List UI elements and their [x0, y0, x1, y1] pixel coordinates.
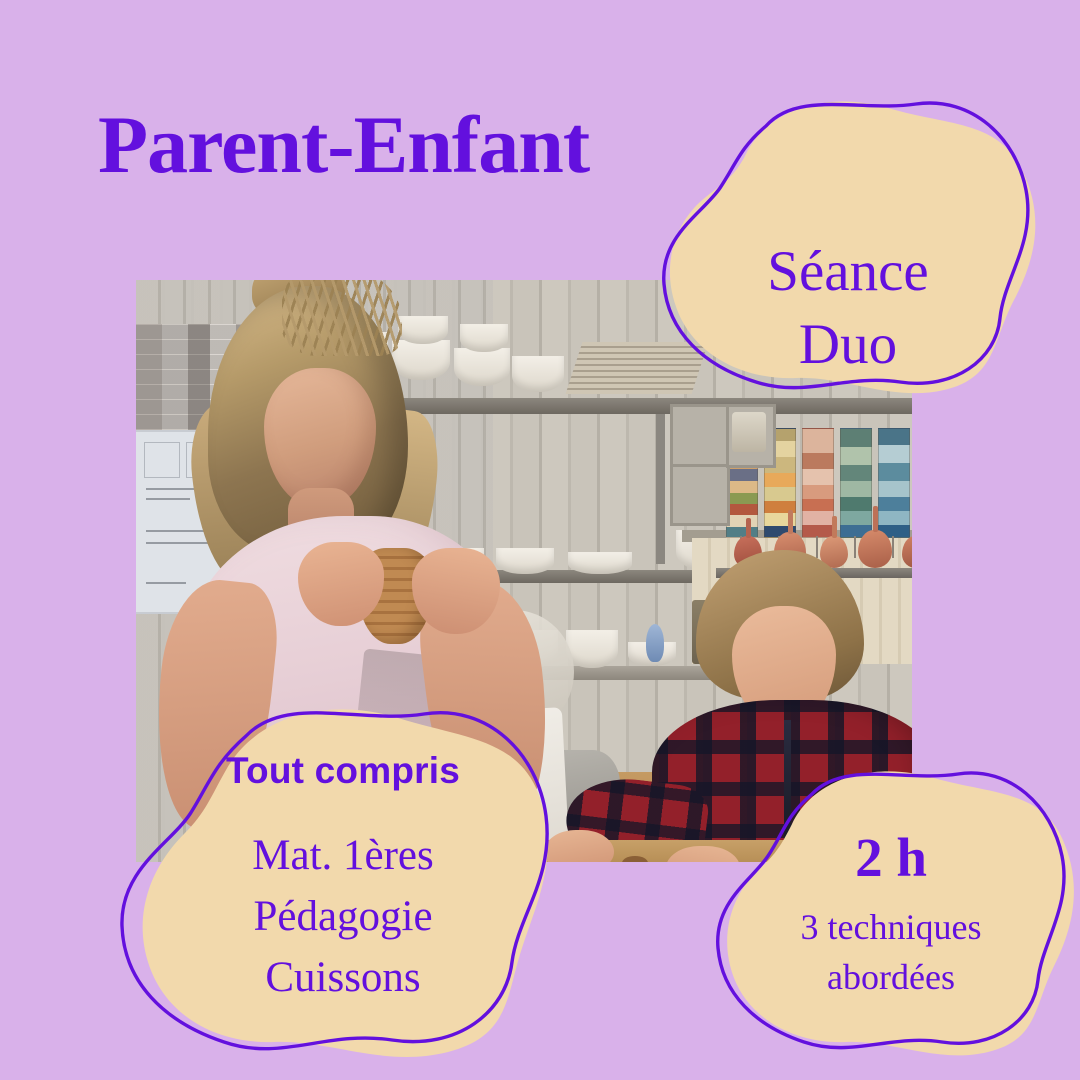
badge-duration-heading: 2 h — [700, 830, 1080, 885]
badge-duration: 2 h 3 techniques abordées — [700, 758, 1080, 1080]
badge-tout-compris: Tout compris Mat. 1ères Pédagogie Cuisso… — [118, 690, 568, 1080]
badge-seance-line1: Séance — [648, 236, 1048, 309]
badge-tout-heading: Tout compris — [118, 750, 568, 792]
badge-duration-body: 3 techniques abordées — [700, 903, 1080, 1002]
badge-seance-line2: Duo — [648, 309, 1048, 382]
page-title: Parent-Enfant — [98, 104, 589, 186]
badge-tout-line3: Cuissons — [118, 947, 568, 1008]
badge-tout-body: Mat. 1ères Pédagogie Cuissons — [118, 825, 568, 1008]
badge-duration-line2: abordées — [700, 953, 1080, 1003]
poster-canvas: Parent-Enfant — [0, 0, 1080, 1080]
badge-duration-line1: 3 techniques — [700, 903, 1080, 953]
badge-tout-line2: Pédagogie — [118, 886, 568, 947]
badge-seance-text: Séance Duo — [648, 236, 1048, 382]
badge-seance-duo: Séance Duo — [648, 86, 1048, 406]
badge-tout-line1: Mat. 1ères — [118, 825, 568, 886]
